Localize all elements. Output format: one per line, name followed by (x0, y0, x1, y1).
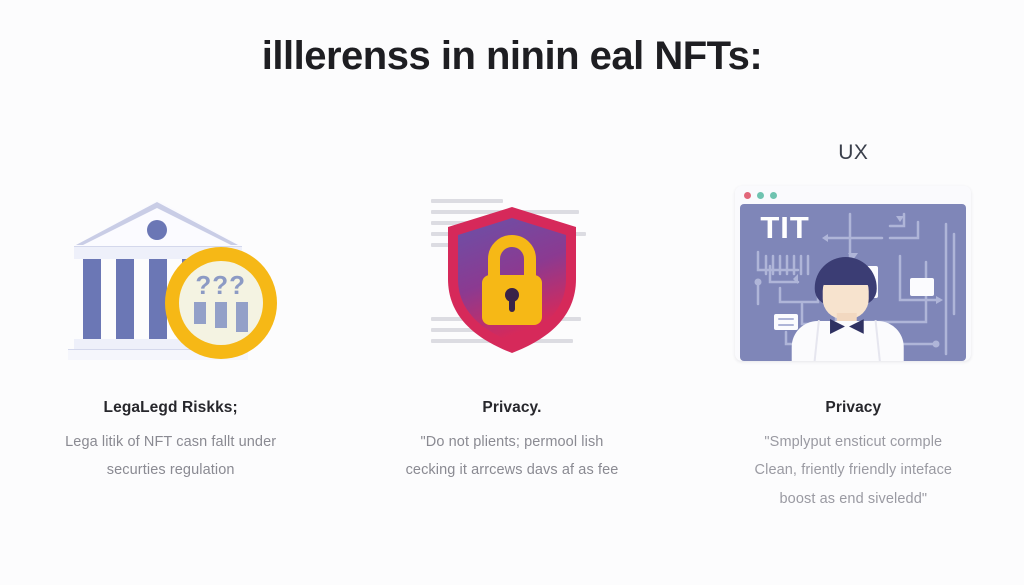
column-1-body-line-2: securties regulation (0, 456, 341, 484)
slide-root: illlerenss in ninin eal NFTs: (0, 0, 1024, 585)
columns-container: ??? LegaLegd Riskks; Lega litik of NFT c… (0, 130, 1024, 550)
column-1-artwork: ??? (46, 176, 296, 391)
column-1-heading: LegaLegd Riskks; (0, 399, 341, 417)
browser-ux-icon: TIT (735, 186, 971, 361)
browser-screen: TIT (740, 204, 966, 361)
column-3-text: Privacy "Smplyput ensticut cormple Clean… (683, 391, 1024, 513)
column-legal-risks: ??? LegaLegd Riskks; Lega litik of NFT c… (0, 130, 341, 550)
column-3-heading: Privacy (683, 399, 1024, 417)
coin-face: ??? (179, 261, 263, 345)
coin-bars (179, 302, 263, 332)
window-dot-minimize (757, 192, 764, 199)
column-2-heading: Privacy. (341, 399, 682, 417)
person-illustration (782, 257, 914, 361)
column-ux: UX TIT (683, 130, 1024, 550)
shield-svg (444, 205, 580, 355)
person-hair-fringe (818, 265, 874, 285)
shield-lock-icon (417, 191, 607, 376)
window-dot-maximize (770, 192, 777, 199)
column-2-artwork (387, 176, 637, 391)
column-2-text: Privacy. "Do not plients; permool lish c… (341, 391, 682, 485)
column-1-text: LegaLegd Riskks; Lega litik of NFT casn … (0, 391, 341, 485)
window-dot-close (744, 192, 751, 199)
column-1-body-line-1: Lega litik of NFT casn fallt under (0, 428, 341, 456)
page-title: illlerenss in ninin eal NFTs: (0, 34, 1024, 79)
column-3-artwork: TIT (728, 176, 978, 391)
column-label-ux: UX (838, 130, 868, 176)
column-3-body-line-3: boost as end siveledd" (683, 485, 1024, 513)
person-bowtie (830, 319, 864, 334)
column-2-body-line-1: "Do not plients; permool lish (341, 428, 682, 456)
bank-medallion-icon (147, 220, 167, 240)
coin-question-marks: ??? (179, 272, 263, 298)
column-privacy: Privacy. "Do not plients; permool lish c… (341, 130, 682, 550)
column-3-body-line-1: "Smplyput ensticut cormple (683, 428, 1024, 456)
bank-coin-icon: ??? (66, 196, 276, 371)
question-coin-icon: ??? (165, 247, 277, 359)
column-2-body-line-2: cecking it arrcews davs af as fee (341, 456, 682, 484)
column-3-body-line-2: Clean, friently friendly inteface (683, 456, 1024, 484)
browser-titlebar (735, 186, 971, 204)
